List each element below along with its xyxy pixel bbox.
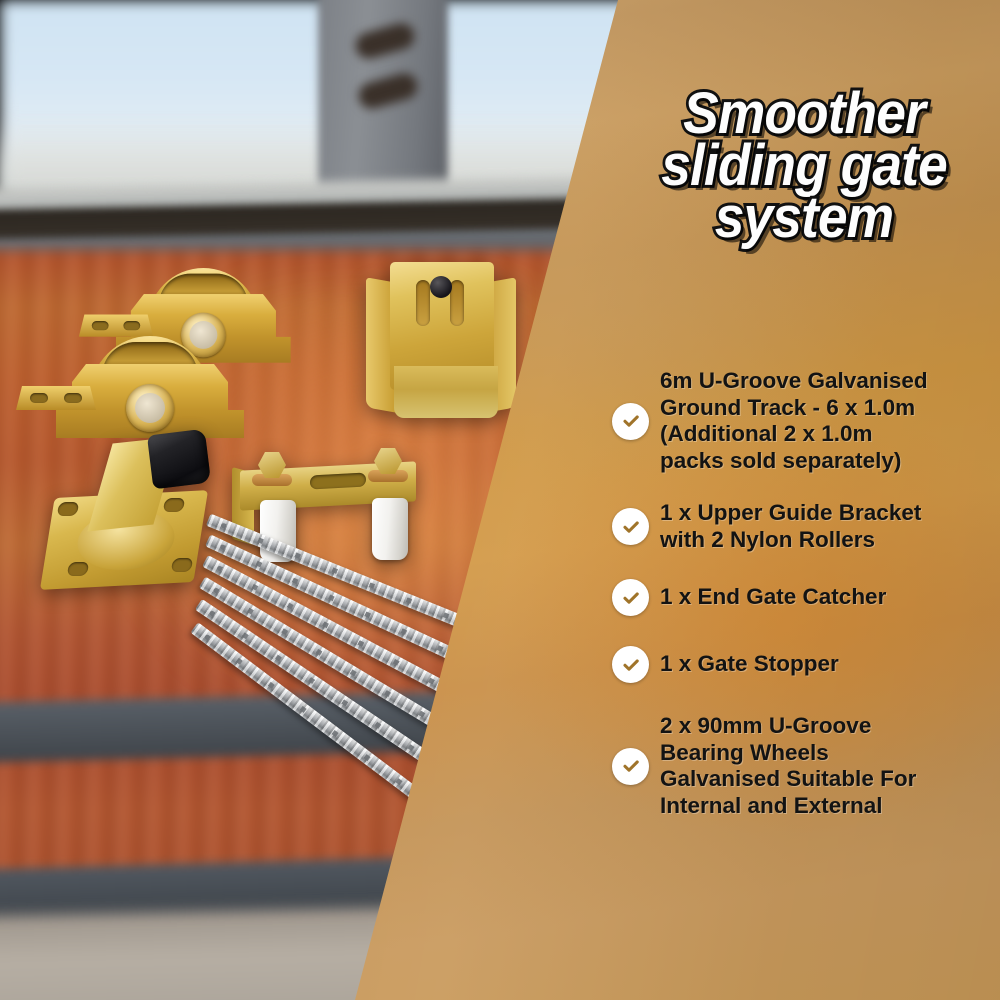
list-item: 2 x 90mm U-Groove Bearing Wheels Galvani…: [612, 713, 1000, 819]
feature-text: 1 x Upper Guide Bracket with 2 Nylon Rol…: [660, 500, 921, 553]
feature-text: 1 x End Gate Catcher: [660, 584, 886, 611]
check-circle-icon: [612, 579, 649, 616]
wheel-hub: [126, 384, 174, 432]
bolt-hole: [30, 393, 48, 403]
wheel-mount-lug-right: [50, 386, 96, 410]
check-circle-icon: [612, 748, 649, 785]
list-item: 1 x End Gate Catcher: [612, 579, 1000, 616]
list-item: 1 x Gate Stopper: [612, 646, 1000, 683]
catcher-slot-right: [450, 280, 464, 326]
bolt-hole: [123, 321, 140, 330]
headline-line-3: system: [631, 192, 977, 244]
list-item: 6m U-Groove Galvanised Ground Track - 6 …: [612, 368, 1000, 474]
bolt-hole: [64, 393, 82, 403]
check-circle-icon: [612, 403, 649, 440]
catcher-black-bolt: [430, 276, 452, 298]
check-circle-icon: [612, 646, 649, 683]
feature-text: 2 x 90mm U-Groove Bearing Wheels Galvani…: [660, 713, 916, 819]
wheel-mount-lug-right: [110, 315, 153, 337]
check-circle-icon: [612, 508, 649, 545]
catcher-lower-lip: [394, 366, 498, 418]
feature-list: 6m U-Groove Galvanised Ground Track - 6 …: [612, 368, 1000, 841]
feature-text: 1 x Gate Stopper: [660, 651, 839, 678]
bolt-hole: [92, 321, 109, 330]
list-item: 1 x Upper Guide Bracket with 2 Nylon Rol…: [612, 500, 1000, 553]
product-banner: Smoother sliding gate system 6m U-Groove…: [0, 0, 1000, 1000]
stopper-rubber-buffer: [147, 429, 211, 490]
guide-adjust-slot: [310, 473, 366, 490]
page-title: Smoother sliding gate system: [631, 88, 977, 244]
feature-text: 6m U-Groove Galvanised Ground Track - 6 …: [660, 368, 928, 474]
catcher-slot-left: [416, 280, 430, 326]
end-gate-catcher: [366, 262, 516, 427]
